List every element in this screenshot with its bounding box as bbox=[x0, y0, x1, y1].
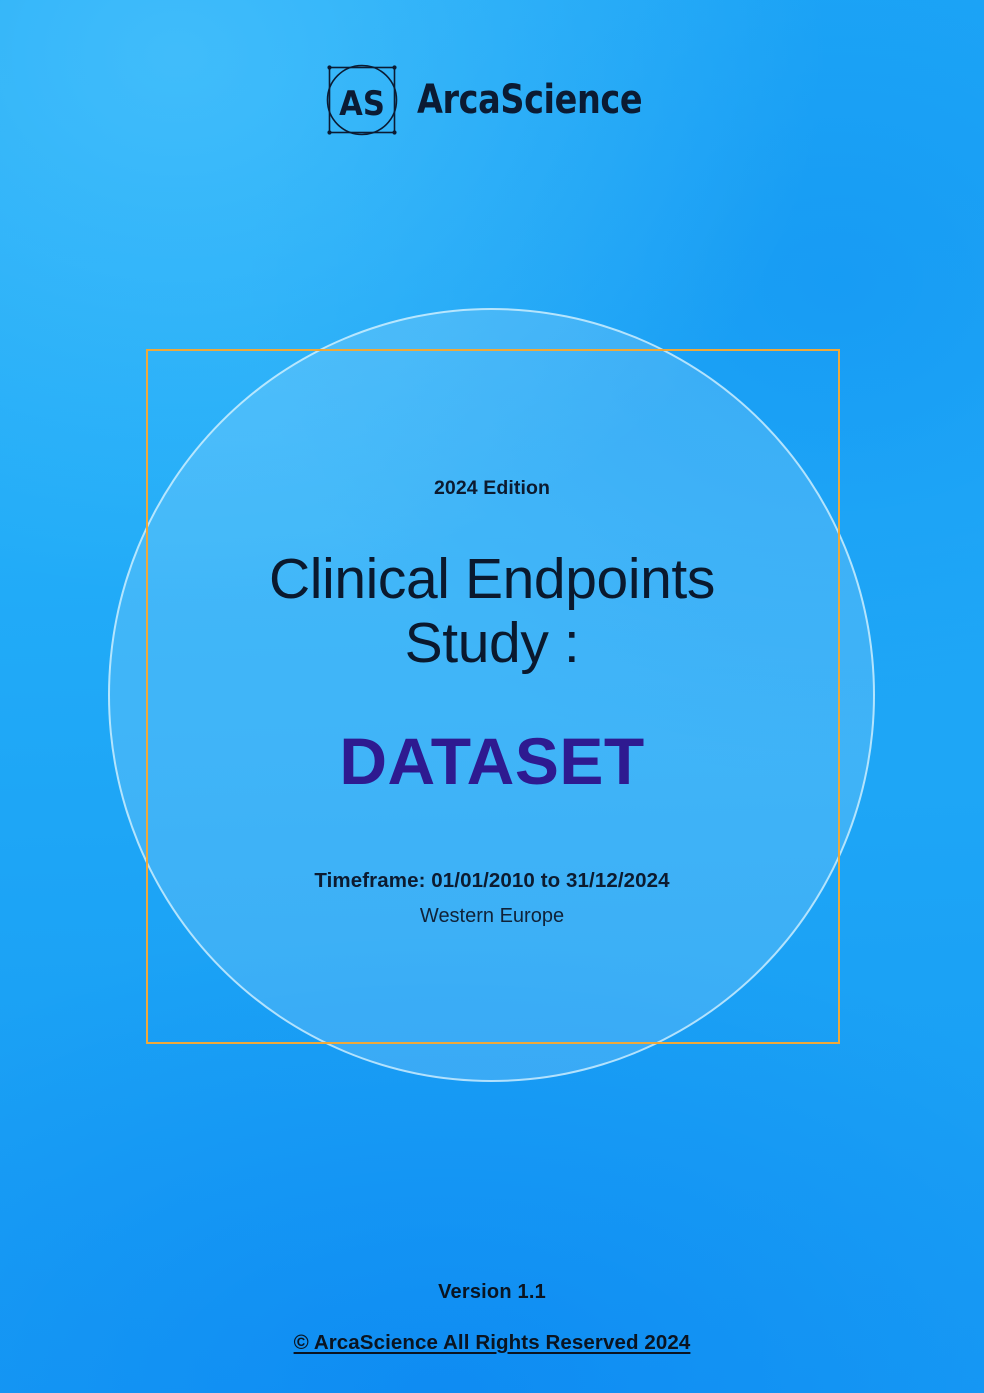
copyright-link[interactable]: © ArcaScience All Rights Reserved 2024 bbox=[294, 1331, 691, 1355]
version-label: Version 1.1 bbox=[0, 1281, 984, 1304]
cover-footer: Version 1.1 © ArcaScience All Rights Res… bbox=[0, 1281, 984, 1355]
logo-monogram-text: AS bbox=[340, 84, 386, 124]
brand-wordmark: ArcaScience bbox=[417, 80, 642, 120]
cover-content-block: 2024 Edition Clinical Endpoints Study : … bbox=[0, 349, 984, 1044]
region-label: Western Europe bbox=[420, 905, 564, 928]
page-title: Clinical Endpoints Study : bbox=[232, 548, 752, 676]
arcascience-square-circle-monogram-icon: AS bbox=[324, 62, 400, 138]
subject-heading: DATASET bbox=[339, 728, 644, 794]
brand-logo: AS ArcaScience bbox=[0, 62, 984, 138]
edition-label: 2024 Edition bbox=[434, 477, 550, 500]
timeframe-label: Timeframe: 01/01/2010 to 31/12/2024 bbox=[314, 869, 669, 893]
document-cover-page: AS ArcaScience 2024 Edition Clinical End… bbox=[0, 0, 984, 1393]
